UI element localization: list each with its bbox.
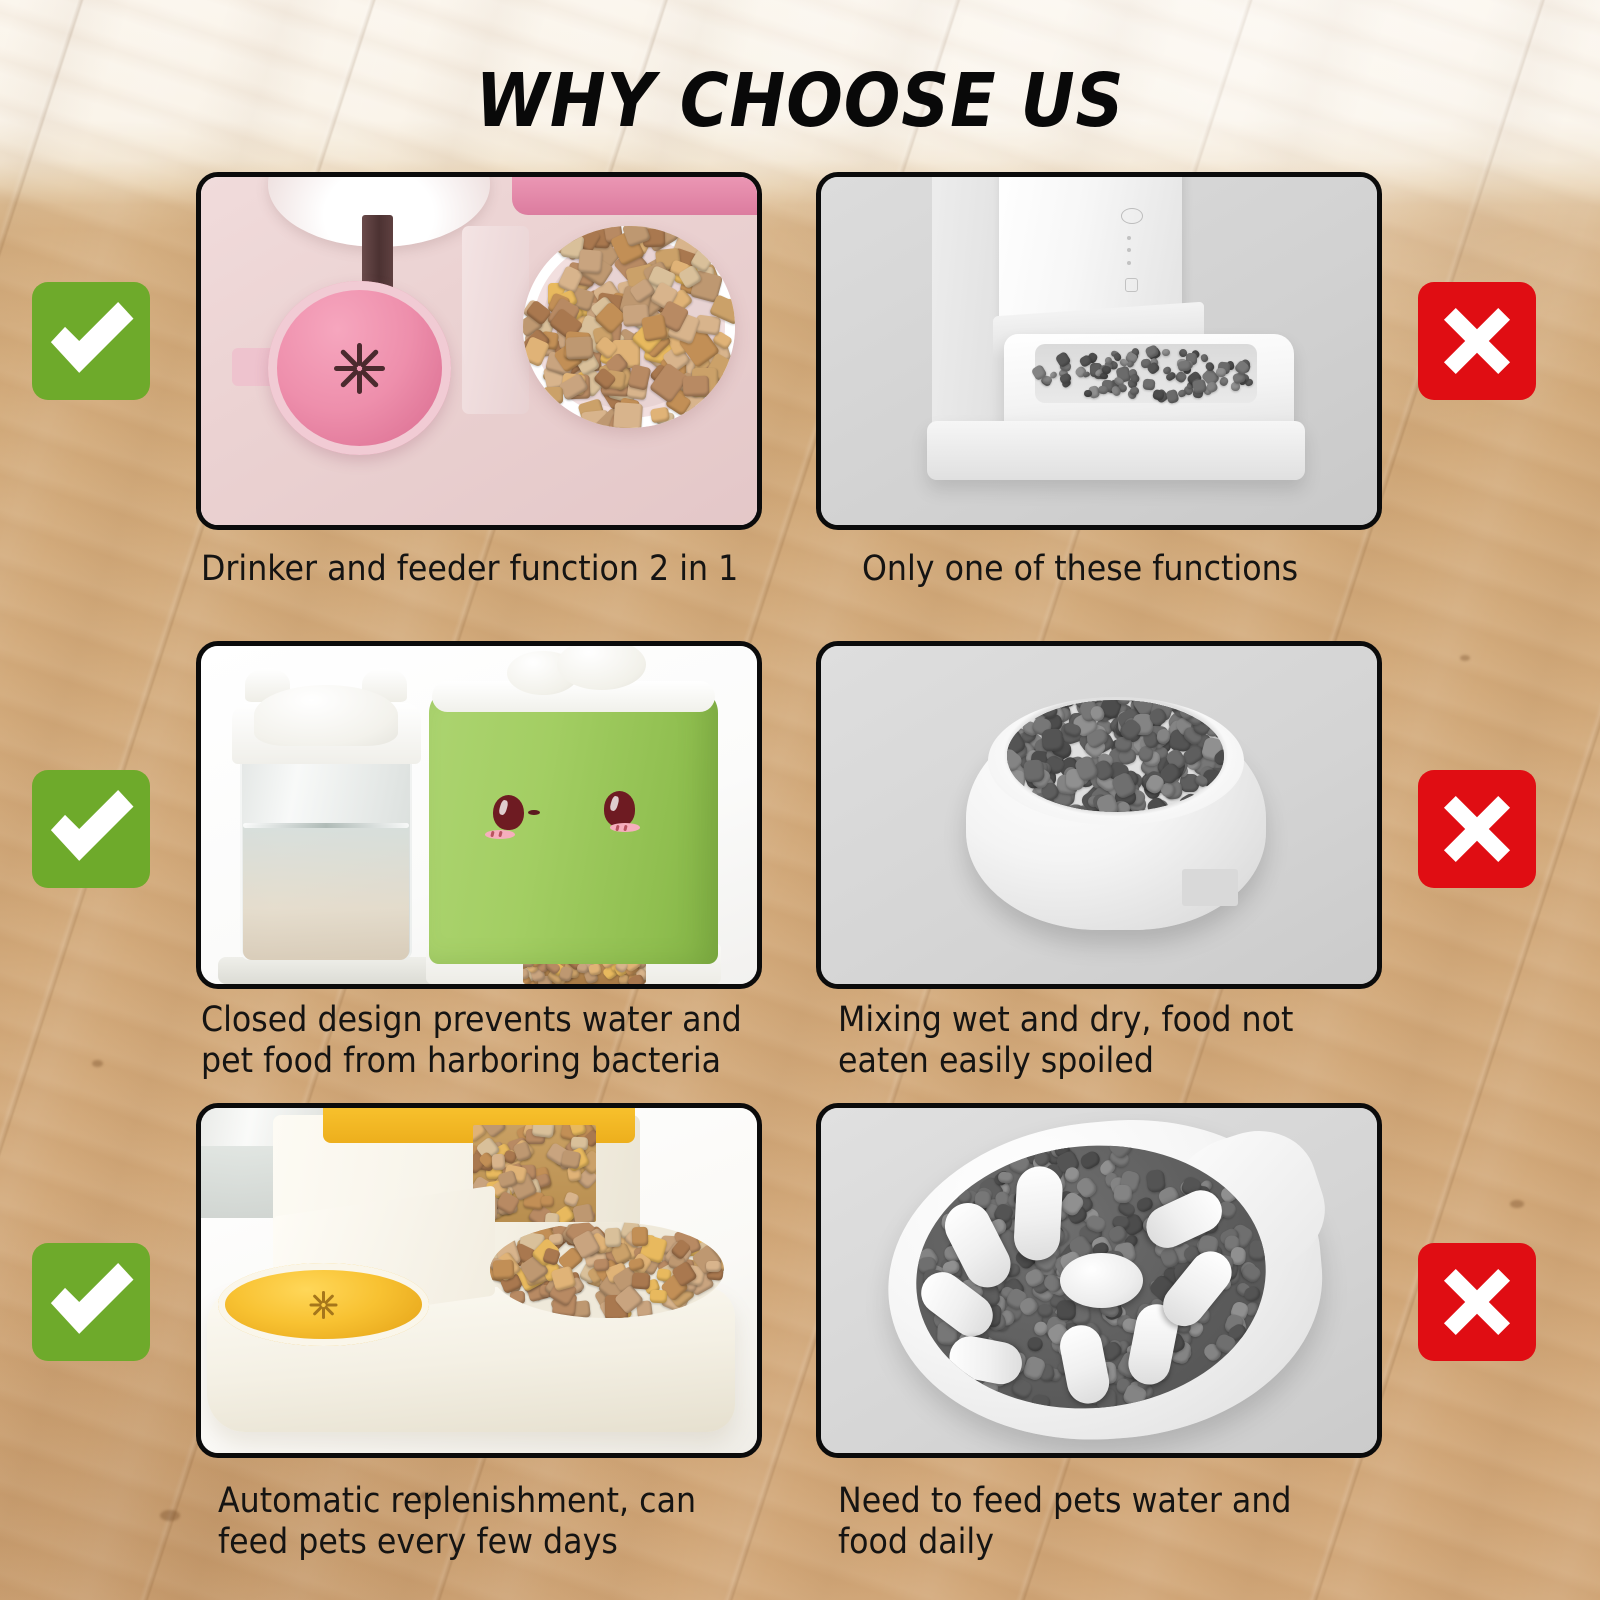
wood-speck <box>1510 1200 1524 1208</box>
kibble-piece <box>683 375 710 396</box>
caption-bad-row-1: Only one of these functions <box>862 549 1369 590</box>
kibble-piece <box>632 1272 651 1289</box>
status-badge-cross-row-3 <box>1418 1243 1536 1361</box>
kibble-piece <box>589 963 603 976</box>
kibble-piece <box>1113 1184 1132 1203</box>
caption-good-row-1: Drinker and feeder function 2 in 1 <box>201 549 780 590</box>
kibble-piece <box>543 387 563 405</box>
kibble-piece <box>572 1203 595 1222</box>
kibble-piece <box>1078 1149 1102 1172</box>
kibble-piece <box>1023 759 1045 783</box>
kibble-piece <box>1009 1377 1034 1402</box>
kibble-piece <box>509 1290 525 1304</box>
kibble-piece <box>1026 1335 1044 1352</box>
kibble-piece <box>560 1149 581 1169</box>
kibble-piece <box>1030 1394 1050 1415</box>
kibble-piece <box>541 1196 554 1207</box>
check-icon <box>32 1243 150 1361</box>
kibble-piece <box>1129 386 1139 395</box>
status-badge-check-row-3 <box>32 1243 150 1361</box>
kibble-piece <box>605 1228 622 1248</box>
photo-panel-bad-row-1 <box>816 172 1382 530</box>
photo-panel-good-row-2 <box>196 641 762 989</box>
kibble-piece <box>1248 1240 1266 1261</box>
photo-panel-good-row-3 <box>196 1103 762 1458</box>
kibble-food-bowl <box>523 226 734 428</box>
check-icon <box>32 770 150 888</box>
status-badge-check-row-2 <box>32 770 150 888</box>
caption-good-row-2: Closed design prevents water and pet foo… <box>201 1000 789 1082</box>
food-bowl <box>490 1222 724 1319</box>
status-badge-check-row-1 <box>32 282 150 400</box>
kibble-piece <box>628 364 652 391</box>
caption-bad-row-2: Mixing wet and dry, food not eaten easil… <box>838 1000 1345 1082</box>
photo-panel-bad-row-2 <box>816 641 1382 989</box>
status-badge-cross-row-1 <box>1418 282 1536 400</box>
kibble-piece <box>1143 379 1156 391</box>
cross-icon <box>1418 770 1536 888</box>
kibble-piece <box>706 1261 721 1272</box>
kibble-piece <box>593 1258 609 1271</box>
kibble-piece <box>1082 371 1090 378</box>
kibble-piece <box>566 337 594 361</box>
kibble-piece <box>632 1227 648 1246</box>
kibble-piece <box>492 1260 514 1280</box>
kibble-piece <box>1041 728 1063 751</box>
yellow-water-bowl <box>218 1263 429 1346</box>
page-title: WHY CHOOSE US <box>80 58 1520 144</box>
kibble-piece <box>1056 1300 1075 1320</box>
left-blush <box>485 830 515 839</box>
photo-panel-bad-row-3 <box>816 1103 1382 1458</box>
kibble-area <box>1035 344 1257 403</box>
kibble-piece <box>545 1212 561 1222</box>
right-eye <box>604 791 635 826</box>
wood-speck <box>1460 655 1470 661</box>
status-badge-cross-row-2 <box>1418 770 1536 888</box>
kibble-piece <box>1162 349 1170 357</box>
kibble-piece <box>613 402 642 428</box>
kibble-piece <box>1218 376 1229 387</box>
cross-icon <box>1418 282 1536 400</box>
kibble-piece <box>1145 1169 1166 1193</box>
pink-water-bowl <box>268 281 451 455</box>
wood-speck <box>92 1060 103 1067</box>
caption-good-row-3: Automatic replenishment, can feed pets e… <box>218 1481 797 1563</box>
kibble-piece <box>492 1153 506 1170</box>
caption-bad-row-3: Need to feed pets water and food daily <box>838 1481 1345 1563</box>
kibble-heap <box>1007 700 1224 812</box>
infographic-page: WHY CHOOSE US <box>0 0 1600 1600</box>
kibble-piece <box>1098 385 1109 394</box>
photo-panel-good-row-1 <box>196 172 762 530</box>
green-feeder-body <box>429 687 718 964</box>
check-icon <box>32 282 150 400</box>
left-eye <box>493 795 524 830</box>
wood-speck <box>160 1510 180 1521</box>
kibble-piece <box>650 1289 668 1303</box>
cross-icon <box>1418 1243 1536 1361</box>
kibble-piece <box>578 249 603 274</box>
kibble-piece <box>641 314 668 342</box>
